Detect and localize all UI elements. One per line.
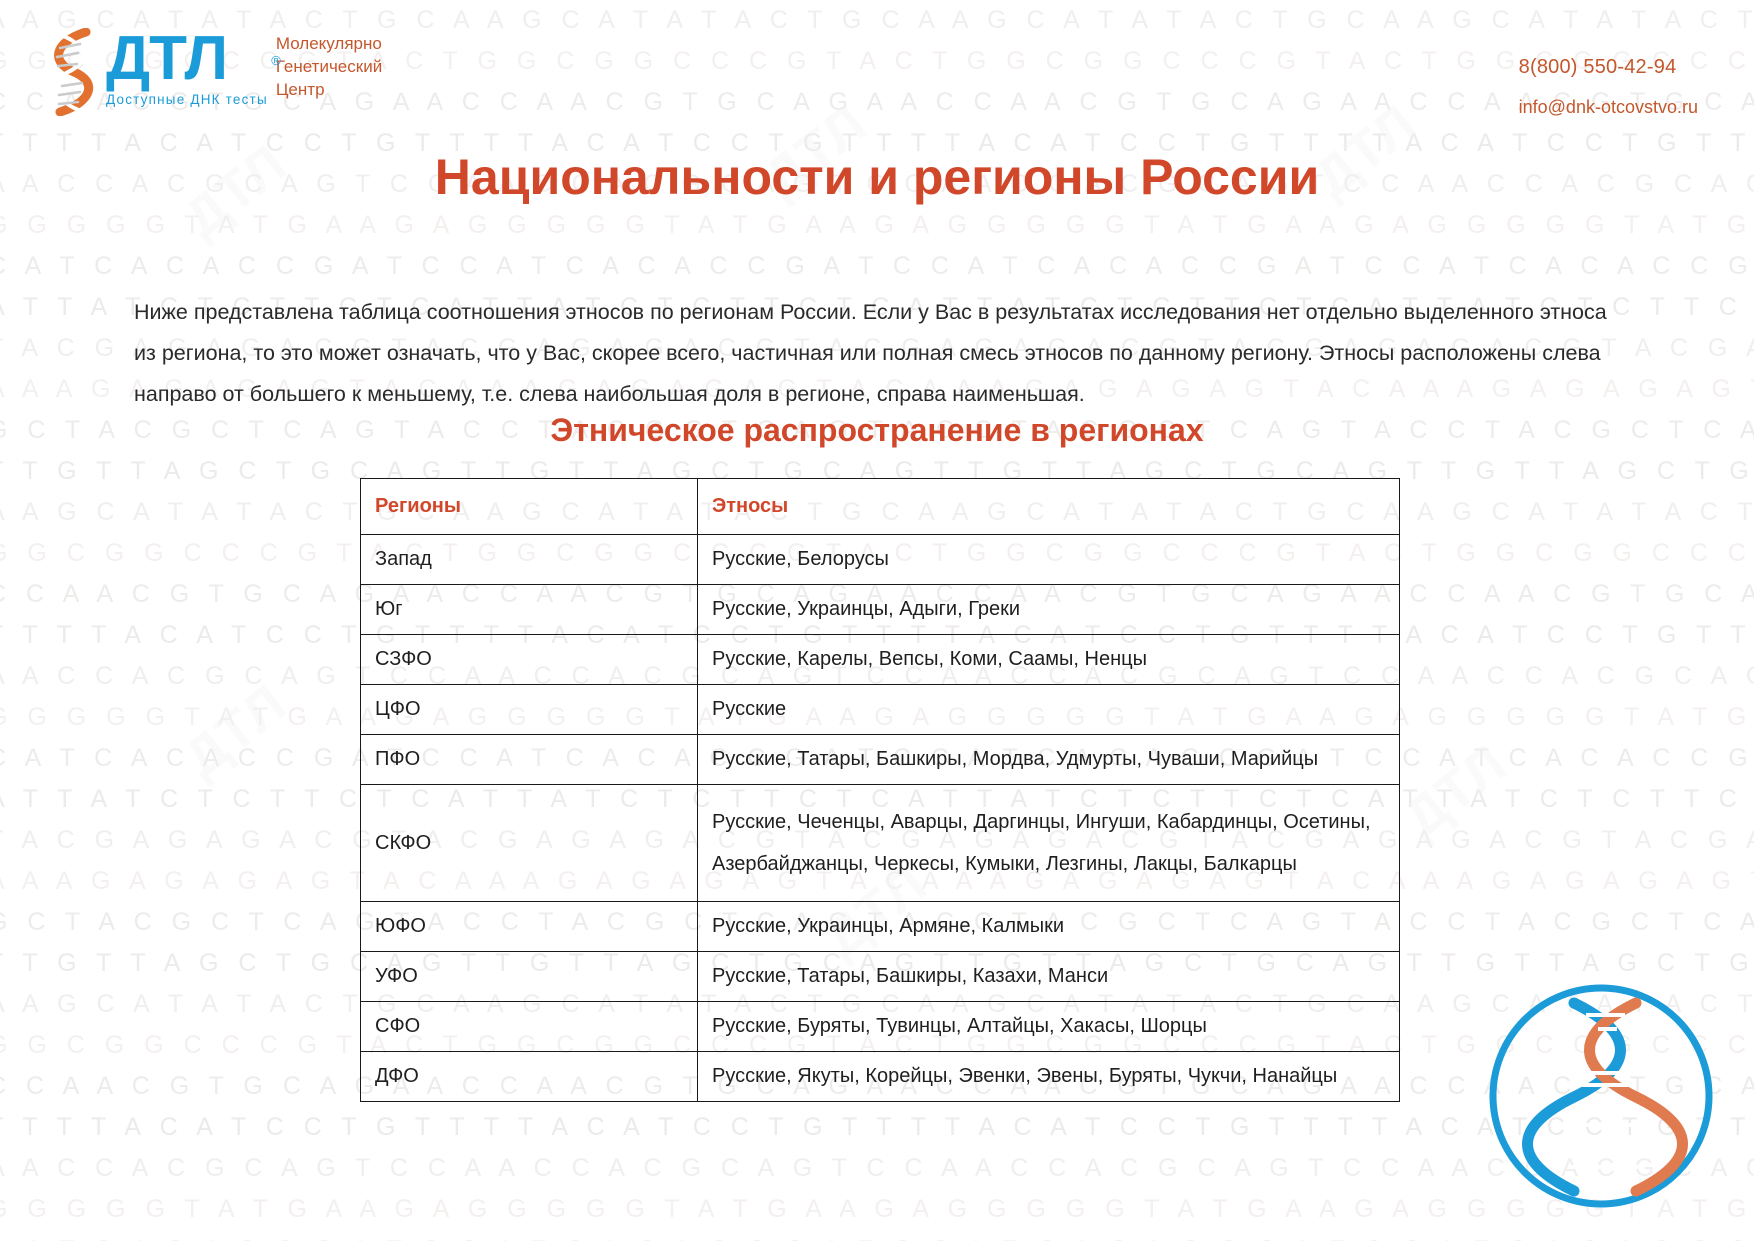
ethnic-distribution-table: Регионы Этносы ЗападРусские, БелорусыЮгР… bbox=[360, 478, 1400, 1102]
table-cell-region: ПФО bbox=[361, 735, 698, 785]
trademark-icon: ® bbox=[271, 30, 280, 92]
table-row: ЮФОРусские, Украинцы, Армяне, Калмыки bbox=[361, 902, 1400, 952]
watermark-logo-6: ДТЛ bbox=[1400, 760, 1511, 822]
table-cell-region: УФО bbox=[361, 952, 698, 1002]
column-header-regions: Регионы bbox=[361, 479, 698, 535]
table-cell-ethnos-line: Русские, Чеченцы, Аварцы, Даргинцы, Ингу… bbox=[712, 801, 1385, 843]
brand-logo[interactable]: ДТЛ ® Доступные ДНК тесты Молекулярно Ге… bbox=[44, 28, 382, 116]
table-cell-ethnos-line: Азербайджанцы, Черкесы, Кумыки, Лезгины,… bbox=[712, 843, 1385, 885]
page-header: ДТЛ ® Доступные ДНК тесты Молекулярно Ге… bbox=[0, 0, 1754, 140]
table-cell-region: СКФО bbox=[361, 785, 698, 902]
brand-name: ДТЛ ® bbox=[106, 28, 268, 90]
table-row: ЗападРусские, Белорусы bbox=[361, 535, 1400, 585]
table-cell-ethnos: Русские, Украинцы, Армяне, Калмыки bbox=[698, 902, 1400, 952]
table-cell-ethnos: Русские, Татары, Башкиры, Казахи, Манси bbox=[698, 952, 1400, 1002]
table-head: Регионы Этносы bbox=[361, 479, 1400, 535]
contact-info: 8(800) 550-42-94 info@dnk-otcovstvo.ru bbox=[1519, 56, 1698, 118]
poster-page: A A G C A T A T A C T G C A A G C A T A … bbox=[0, 0, 1754, 1241]
brand-descriptor: Молекулярно Генетический Центр bbox=[276, 28, 382, 101]
table-cell-region: Юг bbox=[361, 585, 698, 635]
table-row: ЮгРусские, Украинцы, Адыги, Греки bbox=[361, 585, 1400, 635]
table-cell-region: СФО bbox=[361, 1002, 698, 1052]
ethnic-table-container: Регионы Этносы ЗападРусские, БелорусыЮгР… bbox=[360, 478, 1400, 1102]
table-cell-ethnos: Русские, Якуты, Корейцы, Эвенки, Эвены, … bbox=[698, 1052, 1400, 1102]
email-address[interactable]: info@dnk-otcovstvo.ru bbox=[1519, 97, 1698, 118]
table-cell-region: ЮФО bbox=[361, 902, 698, 952]
table-row: СЗФОРусские, Карелы, Вепсы, Коми, Саамы,… bbox=[361, 635, 1400, 685]
brand-descriptor-line-3: Центр bbox=[276, 78, 382, 101]
table-row: СКФОРусские, Чеченцы, Аварцы, Даргинцы, … bbox=[361, 785, 1400, 902]
dna-circle-badge bbox=[1486, 981, 1716, 1211]
dna-sequence-line: C A T C A C A C C G A T C C A T C A C A … bbox=[0, 1230, 1754, 1241]
brand-descriptor-line-2: Генетический bbox=[276, 55, 382, 78]
intro-paragraph: Ниже представлена таблица соотношения эт… bbox=[134, 292, 1614, 415]
table-cell-ethnos: Русские bbox=[698, 685, 1400, 735]
table-cell-region: ЦФО bbox=[361, 685, 698, 735]
watermark-logo-4: ДТЛ bbox=[180, 700, 291, 762]
table-cell-region: ДФО bbox=[361, 1052, 698, 1102]
dna-sequence-line: G G G G G T A T G A A G A G G G G G T A … bbox=[0, 205, 1754, 246]
table-cell-ethnos: Русские, Татары, Башкиры, Мордва, Удмурт… bbox=[698, 735, 1400, 785]
table-row: ДФОРусские, Якуты, Корейцы, Эвенки, Эвен… bbox=[361, 1052, 1400, 1102]
table-row: ПФОРусские, Татары, Башкиры, Мордва, Удм… bbox=[361, 735, 1400, 785]
section-subtitle: Этническое распространение в регионах bbox=[0, 412, 1754, 449]
brand-name-text: ДТЛ bbox=[106, 24, 227, 93]
phone-number[interactable]: 8(800) 550-42-94 bbox=[1519, 56, 1698, 79]
table-cell-ethnos: Русские, Чеченцы, Аварцы, Даргинцы, Ингу… bbox=[698, 785, 1400, 902]
dna-sequence-line: C A T C A C A C C G A T C C A T C A C A … bbox=[0, 246, 1754, 287]
page-title: Национальности и регионы России bbox=[0, 148, 1754, 206]
brand-descriptor-line-1: Молекулярно bbox=[276, 32, 382, 55]
column-header-ethnos: Этносы bbox=[698, 479, 1400, 535]
table-row: УФОРусские, Татары, Башкиры, Казахи, Ман… bbox=[361, 952, 1400, 1002]
table-cell-ethnos: Русские, Карелы, Вепсы, Коми, Саамы, Нен… bbox=[698, 635, 1400, 685]
table-row: ЦФОРусские bbox=[361, 685, 1400, 735]
table-cell-ethnos: Русские, Украинцы, Адыги, Греки bbox=[698, 585, 1400, 635]
table-header-row: Регионы Этносы bbox=[361, 479, 1400, 535]
table-body: ЗападРусские, БелорусыЮгРусские, Украинц… bbox=[361, 535, 1400, 1102]
table-cell-ethnos: Русские, Белорусы bbox=[698, 535, 1400, 585]
table-cell-region: СЗФО bbox=[361, 635, 698, 685]
brand-wordmark: ДТЛ ® Доступные ДНК тесты bbox=[106, 28, 268, 107]
table-cell-region: Запад bbox=[361, 535, 698, 585]
table-row: СФОРусские, Буряты, Тувинцы, Алтайцы, Ха… bbox=[361, 1002, 1400, 1052]
brand-tagline: Доступные ДНК тесты bbox=[106, 92, 268, 107]
table-cell-ethnos: Русские, Буряты, Тувинцы, Алтайцы, Хакас… bbox=[698, 1002, 1400, 1052]
dna-helix-icon bbox=[44, 28, 100, 116]
